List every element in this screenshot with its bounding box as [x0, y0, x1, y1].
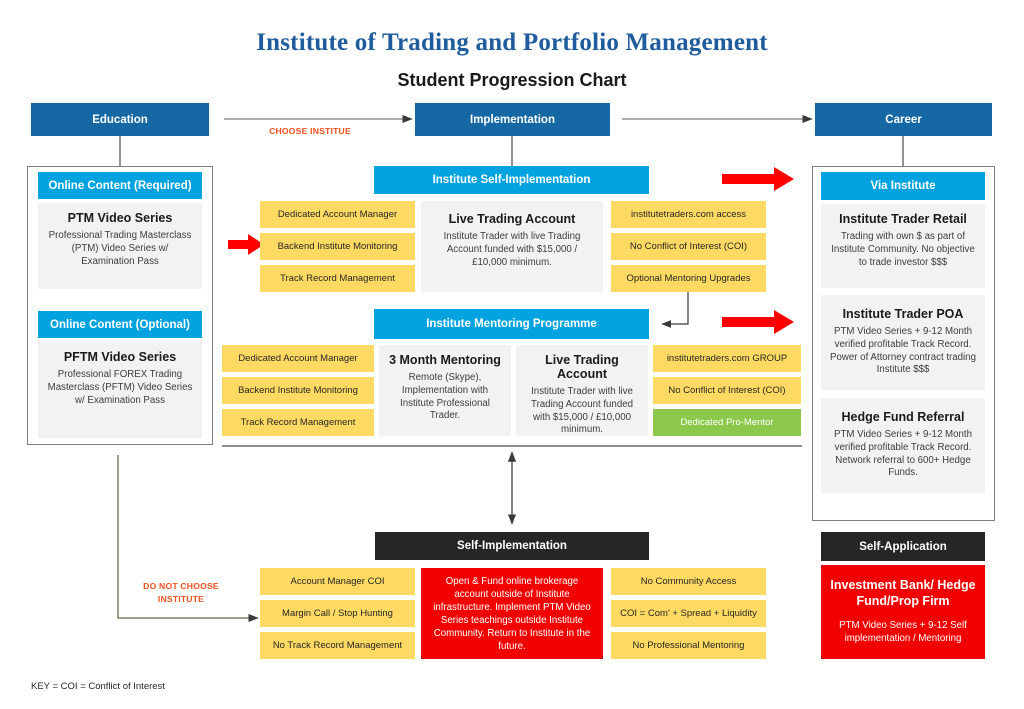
self-impl-right-chip-2-label: Optional Mentoring Upgrades	[626, 273, 750, 284]
mentoring-left-chip-2-label: Track Record Management	[241, 417, 356, 428]
mentoring-center-a-title: 3 Month Mentoring	[387, 353, 503, 367]
mentoring-right-chip-0-label: institutetraders.com GROUP	[667, 353, 787, 364]
column-header-implementation-label: Implementation	[470, 114, 555, 126]
bottom-right-chip-0[interactable]: No Community Access	[611, 568, 766, 595]
self-impl-right-chip-0-label: institutetraders.com access	[631, 209, 746, 220]
bottom-left-chip-1[interactable]: Margin Call / Stop Hunting	[260, 600, 415, 627]
career-block-1-panel: Institute Trader POA PTM Video Series + …	[821, 295, 985, 390]
self-impl-left-chip-0[interactable]: Dedicated Account Manager	[260, 201, 415, 228]
bottom-center-red-panel: Open & Fund online brokerage account out…	[421, 568, 603, 659]
diagram-canvas: Institute of Trading and Portfolio Manag…	[0, 0, 1024, 709]
column-header-education[interactable]: Education	[31, 103, 209, 136]
mentoring-center-b-panel: Live Trading Account Institute Trader wi…	[516, 345, 648, 436]
career-block-1-desc: PTM Video Series + 9-12 Month verified p…	[829, 326, 977, 377]
page-subtitle: Student Progression Chart	[0, 70, 1024, 91]
bottom-left-chip-2[interactable]: No Track Record Management	[260, 632, 415, 659]
career-block-0-desc: Trading with own $ as part of Institute …	[829, 231, 977, 269]
self-implementation-header-label: Institute Self-Implementation	[433, 174, 591, 186]
self-application-header[interactable]: Self-Application	[821, 532, 985, 561]
label-do-not-choose-institute: DO NOT CHOOSE INSTITUTE	[126, 580, 236, 606]
education-block-0-panel: PTM Video Series Professional Trading Ma…	[38, 203, 202, 289]
self-application-title: Investment Bank/ Hedge Fund/Prop Firm	[830, 577, 976, 610]
mentoring-center-b-desc: Institute Trader with live Trading Accou…	[524, 386, 640, 437]
mentoring-left-chip-1-label: Backend Institute Monitoring	[238, 385, 358, 396]
connector-optional-upgrades-to-mentoring	[662, 291, 688, 324]
self-impl-left-chip-2-label: Track Record Management	[280, 273, 395, 284]
bottom-self-implementation-header-label: Self-Implementation	[457, 540, 567, 552]
mentoring-right-chip-green[interactable]: Dedicated Pro-Mentor	[653, 409, 801, 436]
mentoring-left-chip-0[interactable]: Dedicated Account Manager	[222, 345, 374, 372]
label-choose-institute: CHOOSE INSTITUE	[254, 125, 366, 138]
column-header-career-label: Career	[885, 114, 921, 126]
column-header-implementation[interactable]: Implementation	[415, 103, 610, 136]
mentoring-left-chip-0-label: Dedicated Account Manager	[238, 353, 357, 364]
self-impl-left-chip-2[interactable]: Track Record Management	[260, 265, 415, 292]
bottom-left-chip-1-label: Margin Call / Stop Hunting	[282, 608, 393, 619]
career-block-2-desc: PTM Video Series + 9-12 Month verified p…	[829, 429, 977, 480]
self-impl-center-title: Live Trading Account	[429, 212, 595, 226]
bottom-right-chip-1-label: COI = Com’ + Spread + Liquidity	[620, 608, 757, 619]
bottom-center-red-text: Open & Fund online brokerage account out…	[429, 575, 595, 653]
self-impl-center-desc: Institute Trader with live Trading Accou…	[429, 231, 595, 269]
self-impl-left-chip-0-label: Dedicated Account Manager	[278, 209, 397, 220]
self-application-panel: Investment Bank/ Hedge Fund/Prop Firm PT…	[821, 565, 985, 659]
bottom-right-chip-2[interactable]: No Professional Mentoring	[611, 632, 766, 659]
education-block-1-header-label: Online Content (Optional)	[50, 319, 190, 331]
education-block-1-title: PFTM Video Series	[46, 350, 194, 364]
education-block-1-panel: PFTM Video Series Professional FOREX Tra…	[38, 342, 202, 438]
education-block-1-header[interactable]: Online Content (Optional)	[38, 311, 202, 338]
bottom-right-chip-0-label: No Community Access	[641, 576, 737, 587]
bottom-left-chip-2-label: No Track Record Management	[273, 640, 402, 651]
self-impl-right-chip-2[interactable]: Optional Mentoring Upgrades	[611, 265, 766, 292]
self-impl-left-chip-1-label: Backend Institute Monitoring	[278, 241, 398, 252]
bottom-right-chip-2-label: No Professional Mentoring	[633, 640, 745, 651]
self-application-header-label: Self-Application	[859, 541, 947, 553]
mentoring-header[interactable]: Institute Mentoring Programme	[374, 309, 649, 339]
mentoring-center-a-desc: Remote (Skype), Implementation with Inst…	[387, 372, 503, 423]
education-block-1-desc: Professional FOREX Trading Masterclass (…	[46, 369, 194, 407]
career-block-0-panel: Institute Trader Retail Trading with own…	[821, 204, 985, 288]
via-institute-header-label: Via Institute	[871, 180, 936, 192]
education-block-0-header[interactable]: Online Content (Required)	[38, 172, 202, 199]
mentoring-left-chip-1[interactable]: Backend Institute Monitoring	[222, 377, 374, 404]
mentoring-right-chip-1-label: No Conflict of Interest (COI)	[668, 385, 785, 396]
mentoring-center-b-title: Live Trading Account	[524, 353, 640, 381]
page-title: Institute of Trading and Portfolio Manag…	[0, 29, 1024, 57]
self-impl-center-panel: Live Trading Account Institute Trader wi…	[421, 201, 603, 292]
career-block-2-panel: Hedge Fund Referral PTM Video Series + 9…	[821, 398, 985, 493]
label-do-not-choose-institute-line2: INSTITUTE	[126, 593, 236, 606]
red-arrow-mentoring-to-career	[722, 310, 794, 334]
mentoring-center-a-panel: 3 Month Mentoring Remote (Skype), Implem…	[379, 345, 511, 436]
bottom-left-chip-0-label: Account Manager COI	[291, 576, 385, 587]
mentoring-right-chip-0[interactable]: institutetraders.com GROUP	[653, 345, 801, 372]
bottom-self-implementation-header[interactable]: Self-Implementation	[375, 532, 649, 560]
mentoring-right-chip-1[interactable]: No Conflict of Interest (COI)	[653, 377, 801, 404]
self-impl-right-chip-0[interactable]: institutetraders.com access	[611, 201, 766, 228]
self-impl-right-chip-1[interactable]: No Conflict of Interest (COI)	[611, 233, 766, 260]
self-implementation-header[interactable]: Institute Self-Implementation	[374, 166, 649, 194]
column-header-education-label: Education	[92, 114, 148, 126]
career-block-0-title: Institute Trader Retail	[829, 212, 977, 226]
bottom-right-chip-1[interactable]: COI = Com’ + Spread + Liquidity	[611, 600, 766, 627]
red-arrow-into-self-implementation	[228, 234, 264, 255]
mentoring-header-label: Institute Mentoring Programme	[426, 318, 597, 330]
footer-key: KEY = COI = Conflict of Interest	[31, 681, 165, 692]
career-block-2-title: Hedge Fund Referral	[829, 410, 977, 424]
label-do-not-choose-institute-line1: DO NOT CHOOSE	[126, 580, 236, 593]
self-impl-left-chip-1[interactable]: Backend Institute Monitoring	[260, 233, 415, 260]
mentoring-right-chip-green-label: Dedicated Pro-Mentor	[681, 417, 774, 428]
career-block-1-title: Institute Trader POA	[829, 307, 977, 321]
via-institute-header[interactable]: Via Institute	[821, 172, 985, 200]
red-arrow-self-implementation-to-career	[722, 167, 794, 191]
self-application-desc: PTM Video Series + 9-12 Self implementat…	[830, 619, 976, 645]
education-block-0-desc: Professional Trading Masterclass (PTM) V…	[46, 230, 194, 268]
column-header-career[interactable]: Career	[815, 103, 992, 136]
bottom-left-chip-0[interactable]: Account Manager COI	[260, 568, 415, 595]
education-block-0-header-label: Online Content (Required)	[48, 180, 191, 192]
education-block-0-title: PTM Video Series	[46, 211, 194, 225]
mentoring-left-chip-2[interactable]: Track Record Management	[222, 409, 374, 436]
self-impl-right-chip-1-label: No Conflict of Interest (COI)	[630, 241, 747, 252]
